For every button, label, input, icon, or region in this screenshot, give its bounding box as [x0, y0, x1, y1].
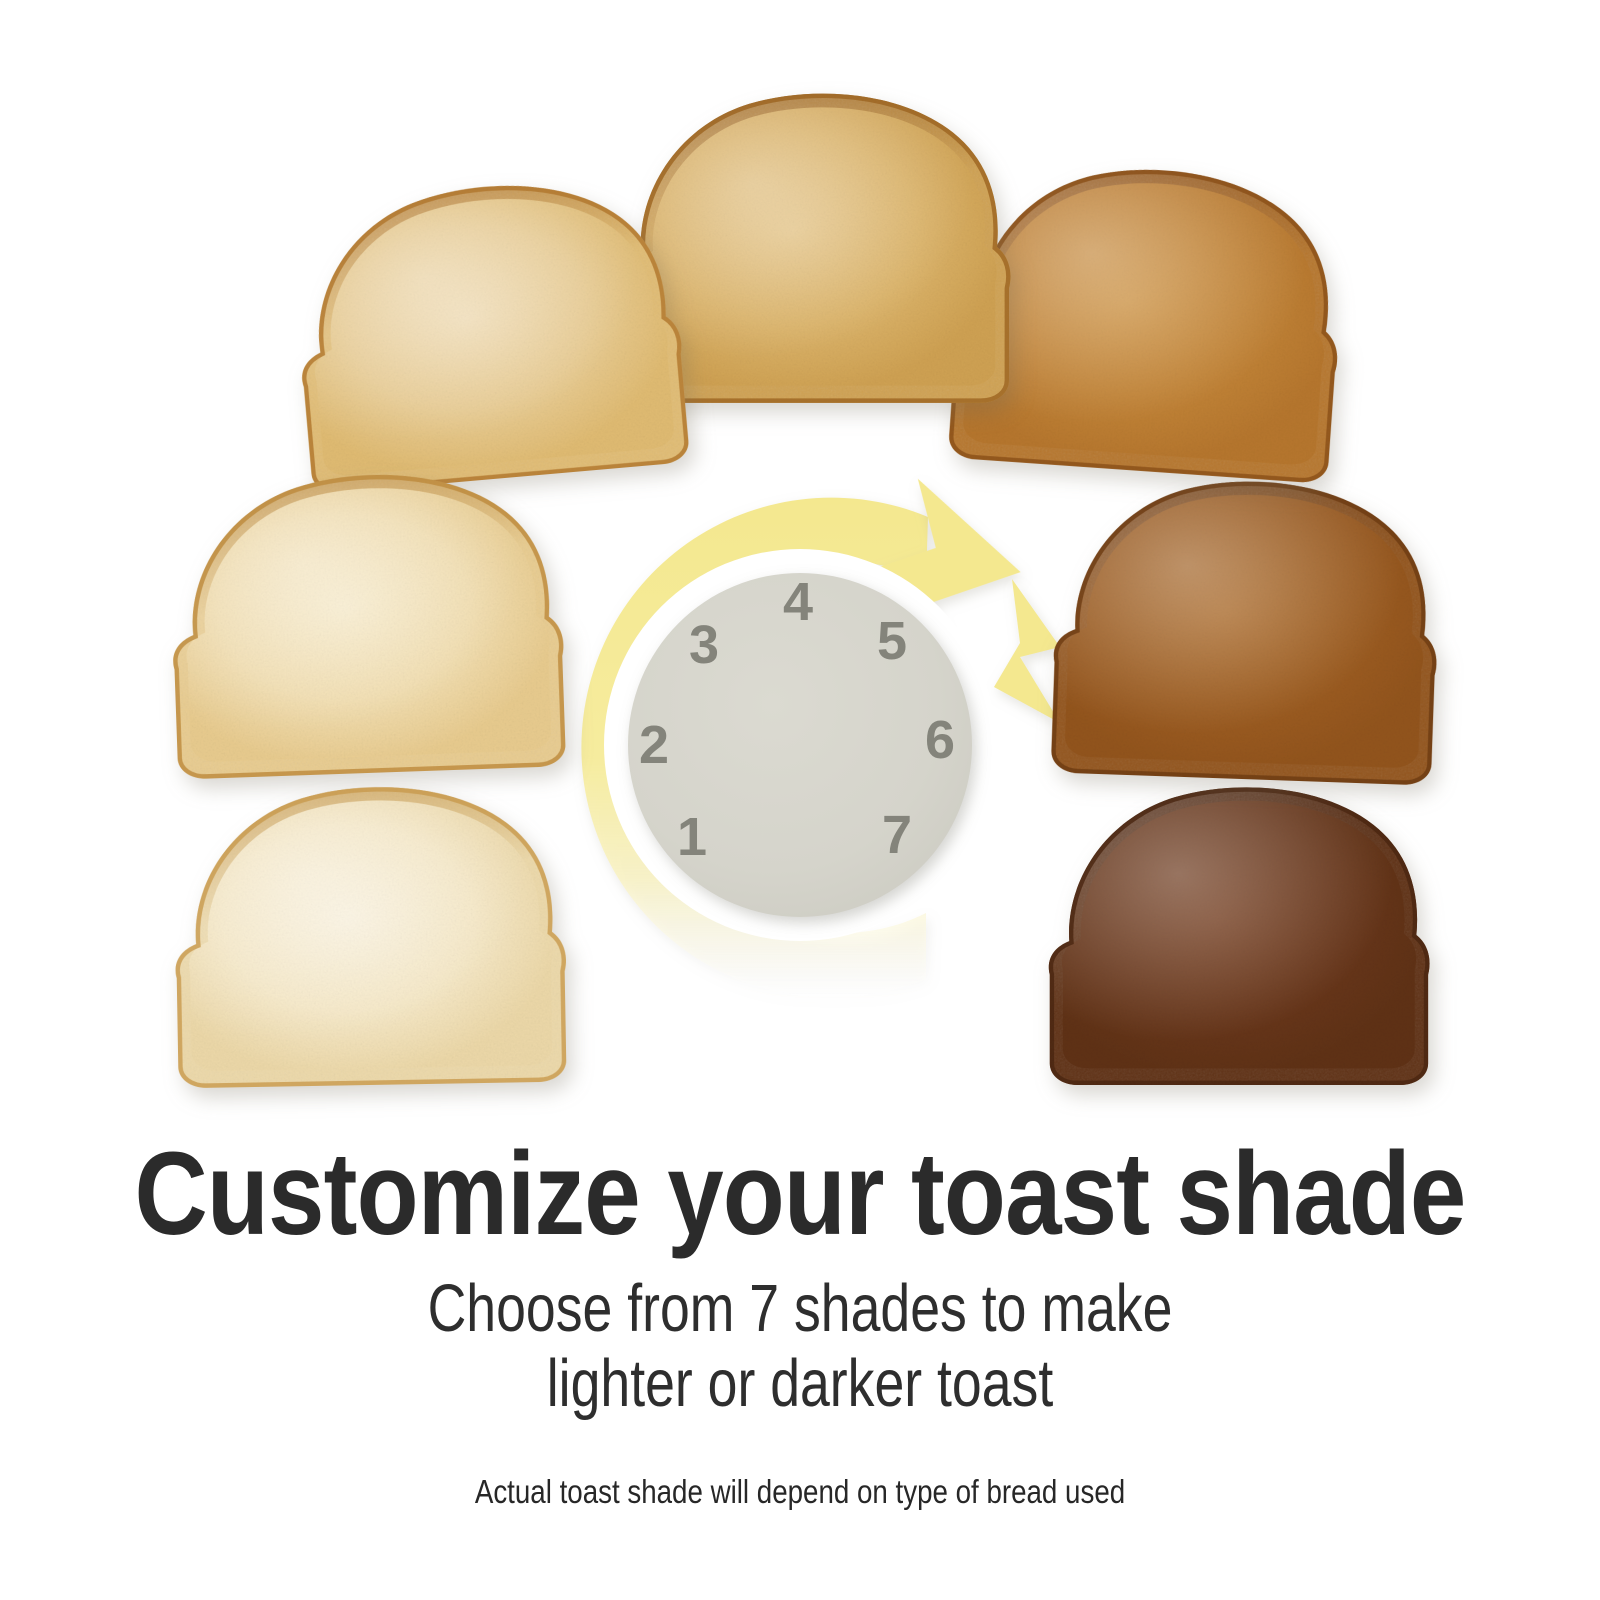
- toast-shade-7: [1042, 782, 1432, 1088]
- toast-shade-3: [280, 166, 695, 499]
- dial-number-7[interactable]: 7: [882, 805, 912, 865]
- subtitle-line-1: Choose from 7 shades to make: [160, 1271, 1440, 1346]
- dial-number-5[interactable]: 5: [877, 611, 907, 671]
- toast-sheen: [280, 166, 695, 499]
- page-subtitle: Choose from 7 shades to make lighter or …: [160, 1271, 1440, 1421]
- toast-shade-2: [160, 463, 570, 783]
- toast-shade-1: [165, 779, 570, 1092]
- toast-shade-6: [1043, 469, 1445, 788]
- toast-sheen: [160, 463, 570, 783]
- toast-sheen: [1043, 469, 1445, 788]
- dial-number-6[interactable]: 6: [925, 710, 955, 770]
- subtitle-line-2: lighter or darker toast: [160, 1346, 1440, 1421]
- dial-number-2[interactable]: 2: [639, 715, 669, 775]
- dial-number-1[interactable]: 1: [677, 807, 707, 867]
- dial-number-4[interactable]: 4: [783, 572, 813, 632]
- page-title: Customize your toast shade: [112, 1135, 1488, 1253]
- caption-block: Customize your toast shade Choose from 7…: [0, 1135, 1600, 1511]
- dial-number-3[interactable]: 3: [689, 615, 719, 675]
- disclaimer-text: Actual toast shade will depend on type o…: [128, 1473, 1472, 1511]
- toast-shade-infographic: 1234567 Customize your toast shade Choos…: [0, 0, 1600, 1600]
